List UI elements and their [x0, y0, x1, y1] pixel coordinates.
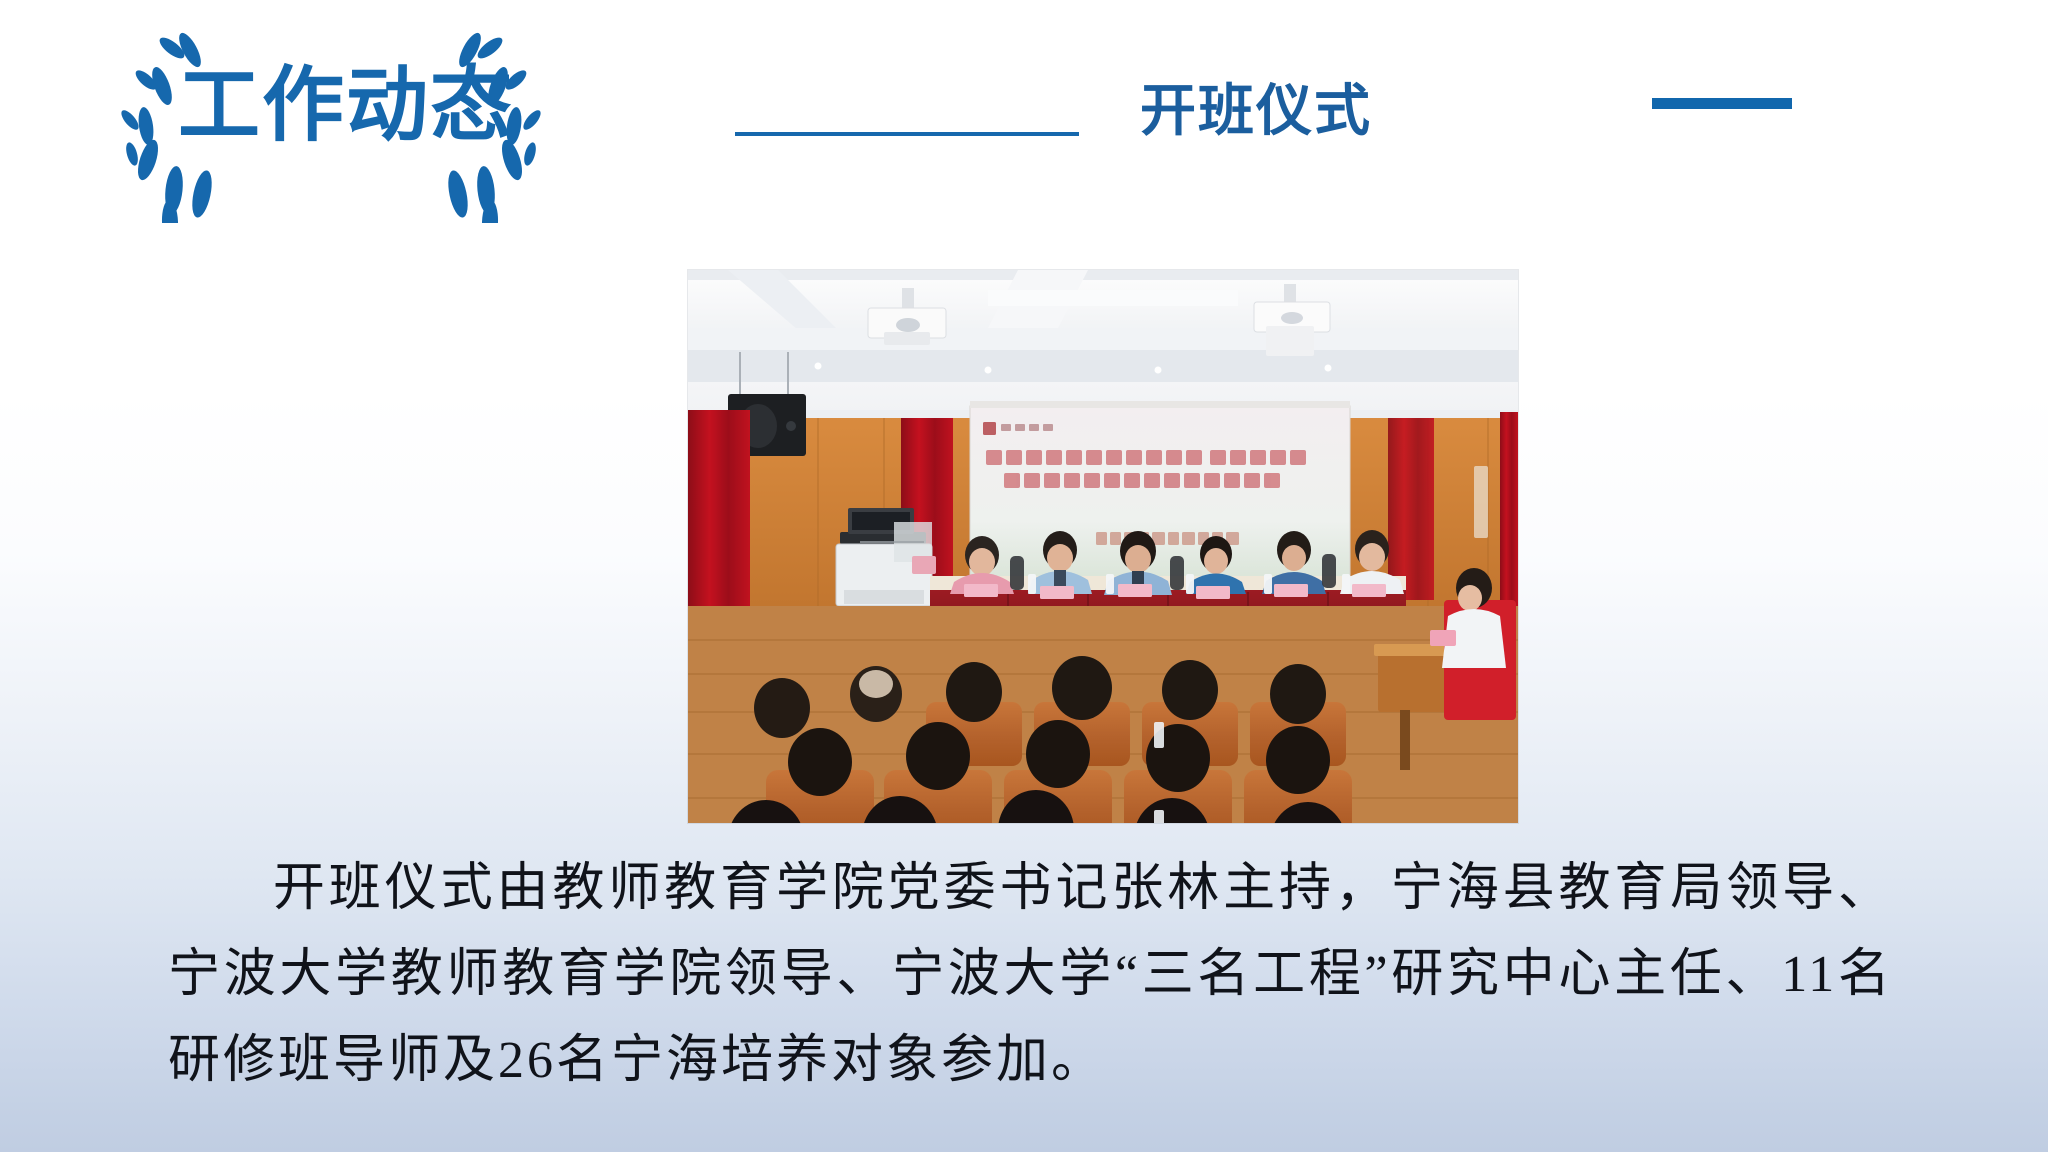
body-text: 开班仪式由教师教育学院党委书记张林主持，宁海县教育局领导、宁波大学教师教育学院领…: [168, 846, 1893, 1104]
section-subtitle: 开班仪式: [1140, 76, 1372, 146]
paragraph-text: 开班仪式由教师教育学院党委书记张林主持，宁海县教育局领导、宁波大学教师教育学院领…: [168, 860, 1893, 1089]
slide-header: 工作动态 开班仪式: [0, 0, 2048, 230]
ceremony-photo: [688, 270, 1518, 823]
body-paragraph: 开班仪式由教师教育学院党委书记张林主持，宁海县教育局领导、宁波大学教师教育学院领…: [168, 846, 1893, 1104]
header-accent-bar: [1652, 98, 1792, 109]
slide-canvas: 工作动态 开班仪式: [0, 0, 2048, 1152]
header-divider: [735, 132, 1079, 136]
page-title: 工作动态: [178, 58, 514, 154]
